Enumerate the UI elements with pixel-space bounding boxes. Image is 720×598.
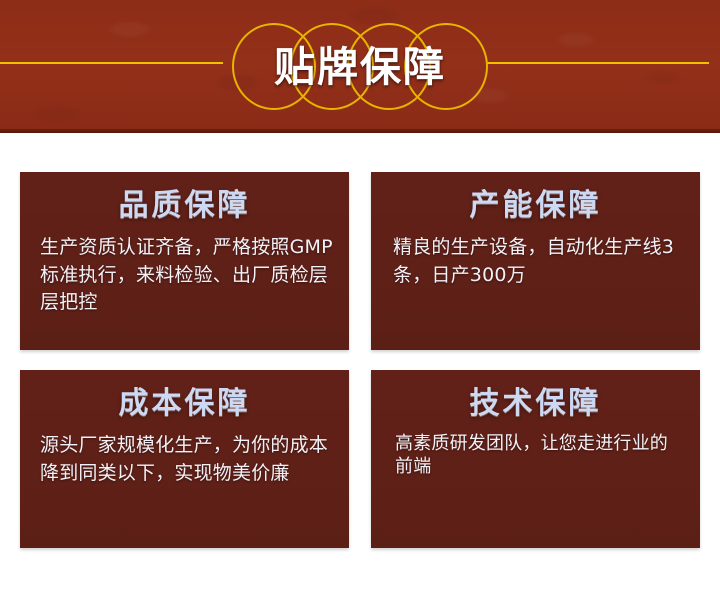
feature-card-grid: 品质保障 生产资质认证齐备，严格按照GMP标准执行，来料检验、出厂质检层层把控 … [20, 172, 700, 548]
banner-rule-left [0, 62, 223, 64]
banner-title-group: 贴牌保障 [232, 22, 488, 112]
promo-page: 贴牌保障 品质保障 生产资质认证齐备，严格按照GMP标准执行，来料检验、出厂质检… [0, 0, 720, 598]
card-title-technology: 技术保障 [371, 388, 700, 420]
banner-rule-right [487, 62, 709, 64]
card-body-quality: 生产资质认证齐备，严格按照GMP标准执行，来料检验、出厂质检层层把控 [40, 234, 333, 317]
card-title-cost: 成本保障 [20, 388, 349, 420]
feature-card-capacity: 产能保障 精良的生产设备，自动化生产线3条，日产300万 [371, 172, 700, 350]
feature-card-cost: 成本保障 源头厂家规模化生产，为你的成本降到同类以下，实现物美价廉 [20, 370, 349, 548]
card-title-capacity: 产能保障 [371, 190, 700, 222]
card-title-quality: 品质保障 [20, 190, 349, 222]
banner-bottom-edge [0, 129, 720, 133]
card-body-cost: 源头厂家规模化生产，为你的成本降到同类以下，实现物美价廉 [40, 432, 333, 487]
feature-card-quality: 品质保障 生产资质认证齐备，严格按照GMP标准执行，来料检验、出厂质检层层把控 [20, 172, 349, 350]
card-body-technology: 高素质研发团队，让您走进行业的前端 [395, 432, 684, 479]
card-body-capacity: 精良的生产设备，自动化生产线3条，日产300万 [393, 234, 684, 289]
feature-card-technology: 技术保障 高素质研发团队，让您走进行业的前端 [371, 370, 700, 548]
banner-title: 贴牌保障 [232, 22, 488, 112]
header-banner: 贴牌保障 [0, 0, 720, 133]
